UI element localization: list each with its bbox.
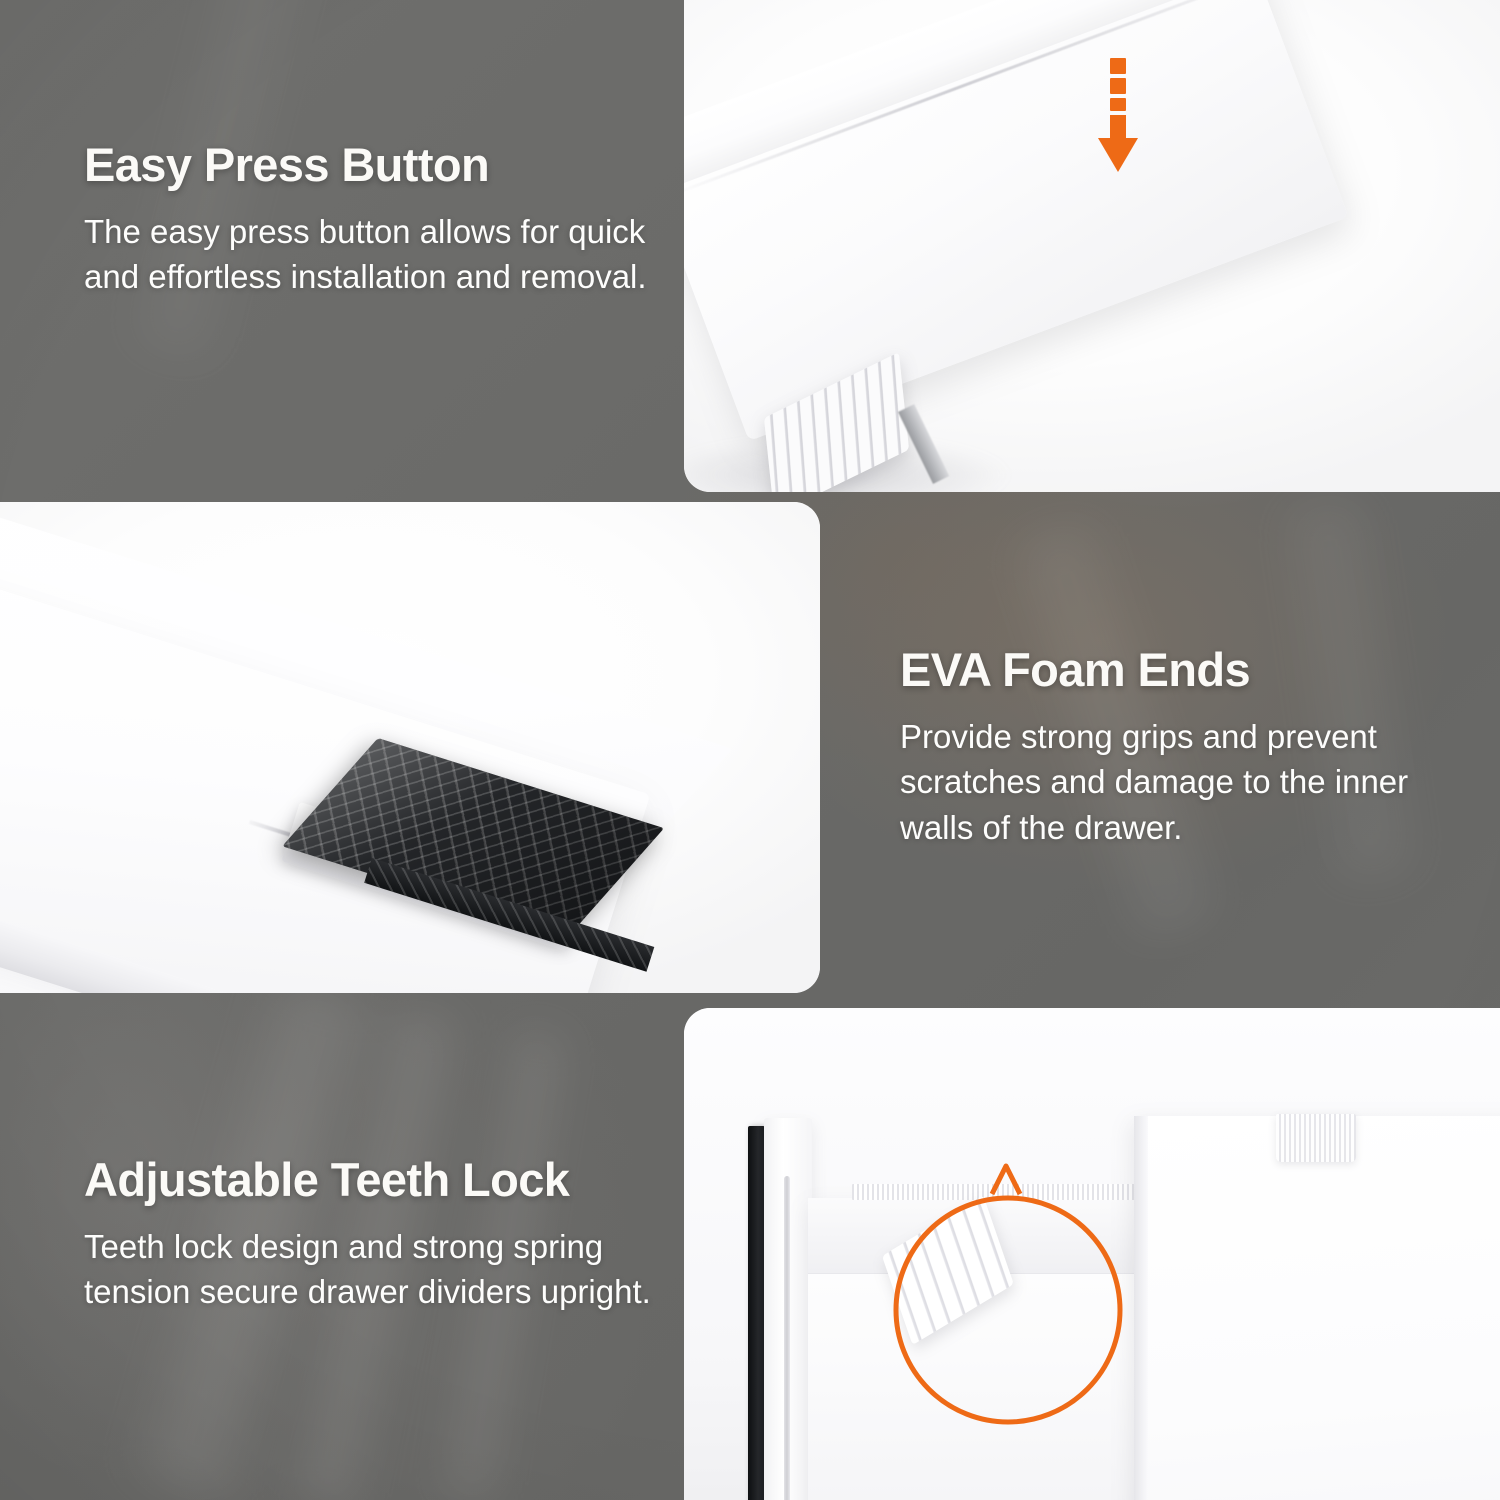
feature-description: Provide strong grips and prevent scratch… (900, 714, 1445, 851)
press-button-tab (1276, 1114, 1356, 1162)
infographic-canvas: Easy Press Button The easy press button … (0, 0, 1500, 1500)
arrow-down-icon (1096, 58, 1140, 174)
feature-image-eva-foam-ends (0, 502, 820, 993)
feature-title: Easy Press Button (84, 140, 664, 190)
press-button-tab-ribs (1276, 1114, 1356, 1162)
feature-text-adjustable-teeth-lock: Adjustable Teeth Lock Teeth lock design … (84, 1155, 664, 1315)
foam-end-strip (748, 1126, 765, 1500)
feature-image-easy-press-button (684, 0, 1500, 492)
circle-callout-icon (874, 1160, 1142, 1428)
feature-title: EVA Foam Ends (900, 645, 1445, 695)
divider-main-panel (1134, 1116, 1500, 1500)
feature-description: Teeth lock design and strong spring tens… (84, 1224, 664, 1315)
divider-post-groove (784, 1176, 790, 1500)
feature-image-adjustable-teeth-lock (684, 1008, 1500, 1500)
feature-description: The easy press button allows for quick a… (84, 209, 664, 300)
feature-text-easy-press-button: Easy Press Button The easy press button … (84, 140, 664, 300)
feature-title: Adjustable Teeth Lock (84, 1155, 664, 1205)
feature-text-eva-foam-ends: EVA Foam Ends Provide strong grips and p… (900, 645, 1445, 850)
